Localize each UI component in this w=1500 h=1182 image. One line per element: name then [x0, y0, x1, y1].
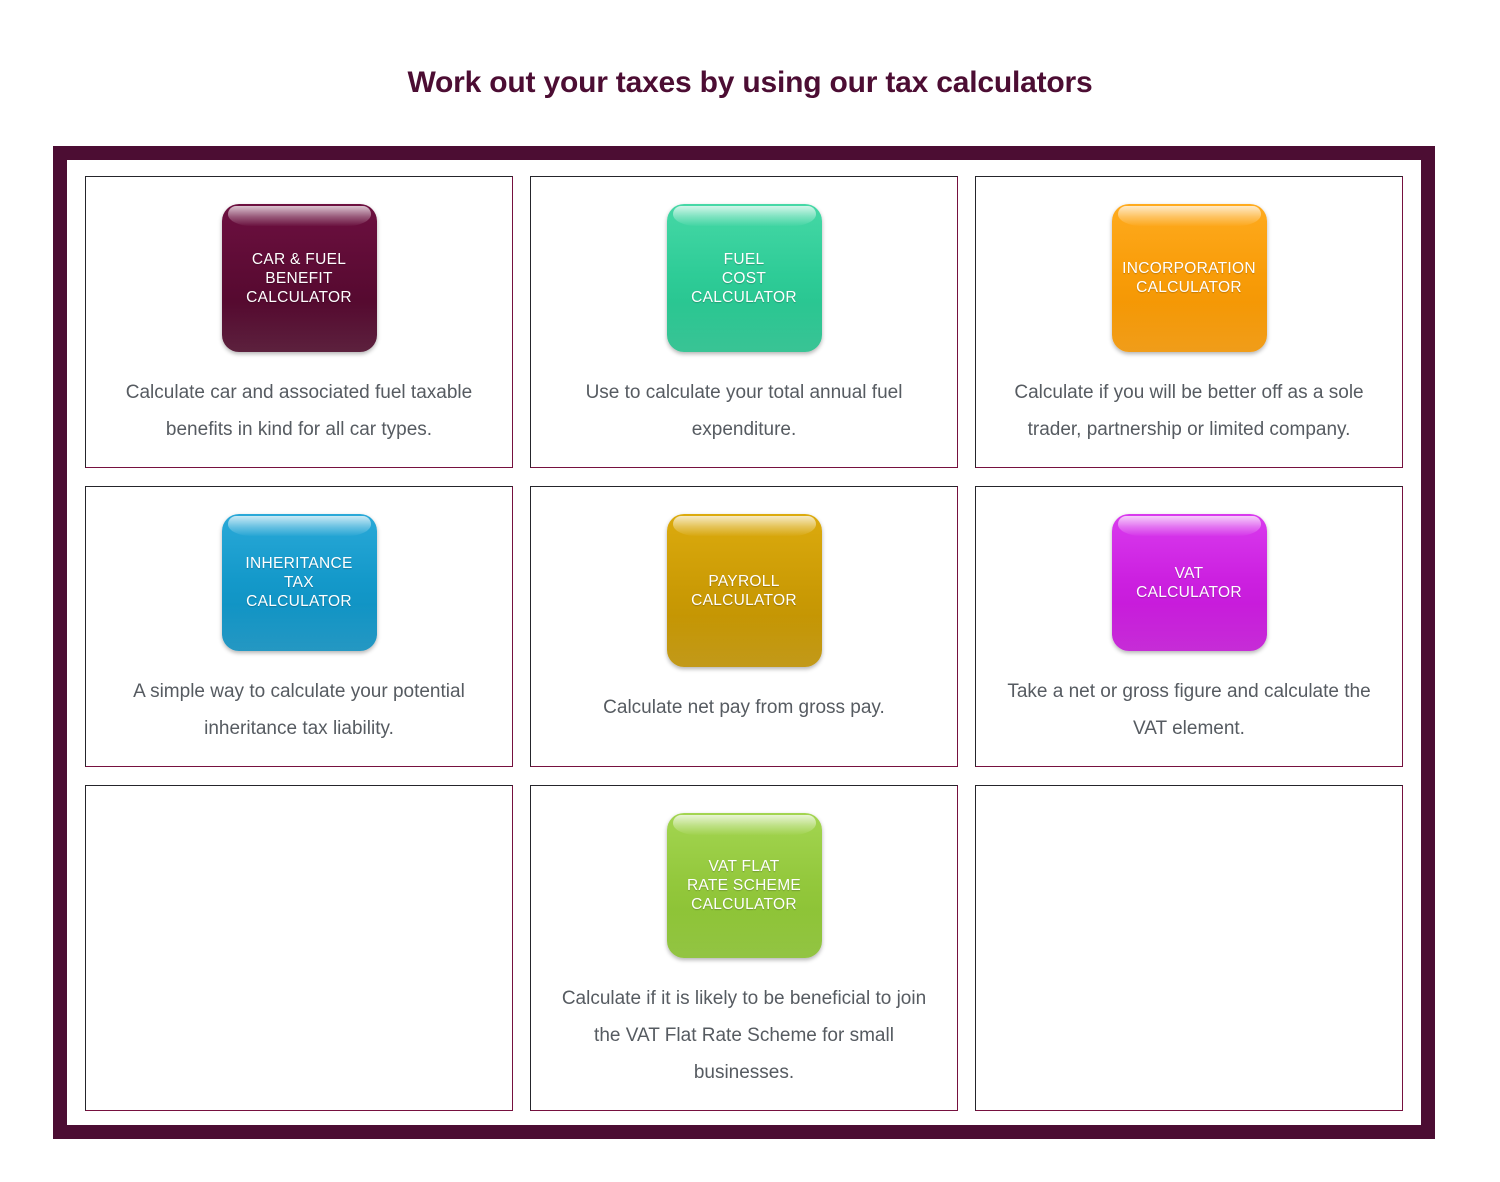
calculator-description: Calculate if you will be better off as a… — [1006, 374, 1372, 448]
calculator-description: Calculate if it is likely to be benefici… — [561, 980, 927, 1091]
calculator-card[interactable]: INCORPORATION CALCULATORCalculate if you… — [975, 176, 1403, 468]
calculator-card[interactable]: VAT CALCULATORTake a net or gross figure… — [975, 486, 1403, 767]
inheritance-tax-calculator-button[interactable]: INHERITANCE TAX CALCULATOR — [222, 514, 377, 651]
fuel-cost-calculator-button[interactable]: FUEL COST CALCULATOR — [667, 204, 822, 352]
page-title: Work out your taxes by using our tax cal… — [0, 66, 1500, 100]
calculator-button-label: VAT FLAT RATE SCHEME CALCULATOR — [681, 857, 807, 914]
calculator-card[interactable]: CAR & FUEL BENEFIT CALCULATORCalculate c… — [85, 176, 513, 468]
calculator-button-label: CAR & FUEL BENEFIT CALCULATOR — [240, 250, 358, 307]
calculator-description: Use to calculate your total annual fuel … — [561, 374, 927, 448]
calculator-card[interactable]: FUEL COST CALCULATORUse to calculate you… — [530, 176, 958, 468]
calculators-frame: CAR & FUEL BENEFIT CALCULATORCalculate c… — [53, 146, 1435, 1139]
calculators-grid: CAR & FUEL BENEFIT CALCULATORCalculate c… — [85, 176, 1403, 1107]
calculator-button-label: VAT CALCULATOR — [1130, 564, 1248, 602]
payroll-calculator-button[interactable]: PAYROLL CALCULATOR — [667, 514, 822, 667]
calculator-card[interactable]: VAT FLAT RATE SCHEME CALCULATORCalculate… — [530, 785, 958, 1111]
calculator-description: A simple way to calculate your potential… — [116, 673, 482, 747]
calculator-button-label: INHERITANCE TAX CALCULATOR — [239, 554, 358, 611]
calculators-page: Work out your taxes by using our tax cal… — [0, 0, 1500, 1182]
vat-calculator-button[interactable]: VAT CALCULATOR — [1112, 514, 1267, 651]
calculator-button-label: FUEL COST CALCULATOR — [685, 250, 803, 307]
calculator-description: Calculate net pay from gross pay. — [561, 689, 927, 726]
calculator-description: Take a net or gross figure and calculate… — [1006, 673, 1372, 747]
calculator-button-label: INCORPORATION CALCULATOR — [1116, 259, 1262, 297]
calculator-card-empty — [85, 785, 513, 1111]
calculator-description: Calculate car and associated fuel taxabl… — [116, 374, 482, 448]
calculator-button-label: PAYROLL CALCULATOR — [685, 572, 803, 610]
calculator-card[interactable]: INHERITANCE TAX CALCULATORA simple way t… — [85, 486, 513, 767]
vat-flat-rate-scheme-calculator-button[interactable]: VAT FLAT RATE SCHEME CALCULATOR — [667, 813, 822, 958]
car-fuel-benefit-calculator-button[interactable]: CAR & FUEL BENEFIT CALCULATOR — [222, 204, 377, 352]
calculator-card[interactable]: PAYROLL CALCULATORCalculate net pay from… — [530, 486, 958, 767]
calculator-card-empty — [975, 785, 1403, 1111]
incorporation-calculator-button[interactable]: INCORPORATION CALCULATOR — [1112, 204, 1267, 352]
